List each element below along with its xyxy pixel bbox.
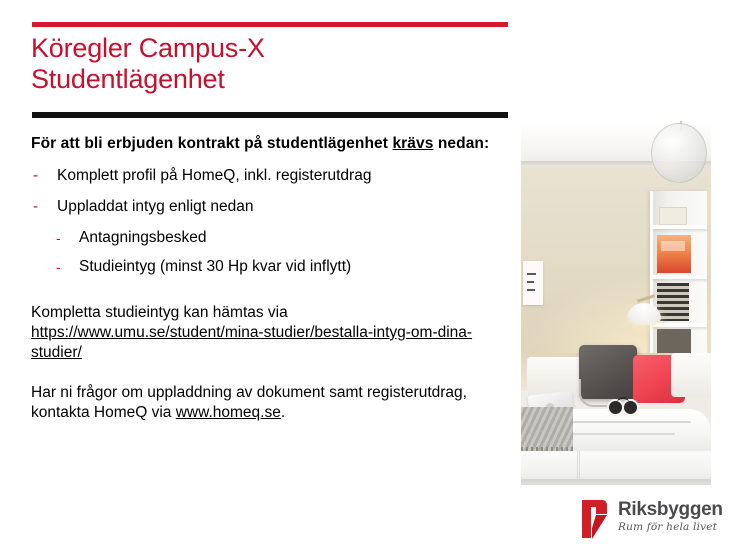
photo-drawer-seam (579, 451, 580, 479)
photo-poster-line (527, 281, 534, 283)
bullet-dash-icon: - (56, 257, 61, 277)
slide-canvas: Köregler Campus-X Studentlägenhet För at… (0, 0, 733, 550)
bullet-dash-icon: - (33, 166, 38, 186)
list-item-label: Uppladdat intyg enligt nedan (57, 198, 253, 215)
list-item-label: Antagningsbesked (79, 229, 207, 246)
link-homeq[interactable]: www.homeq.se (176, 404, 281, 421)
photo-shelf-board (653, 323, 707, 327)
photo-throw-blanket (521, 407, 573, 451)
bullet-dash-icon: - (33, 197, 38, 217)
bullet-dash-icon: - (56, 228, 61, 248)
paragraph-text: Kompletta studieintyg kan hämtas via (31, 304, 288, 321)
header-rule-red (32, 22, 508, 27)
lead-text-underlined: krävs (392, 135, 433, 152)
body-column: För att bli erbjuden kontrakt på student… (31, 134, 506, 423)
photo-shelf-striped-box (657, 283, 689, 321)
photo-shelf-dark-item (657, 329, 691, 353)
photo-headphone-band (617, 397, 629, 407)
riksbyggen-wordmark: Riksbyggen (618, 500, 723, 520)
paragraph-text-end: . (281, 404, 285, 421)
photo-poster-line (527, 273, 536, 275)
photo-drawer-seam (577, 451, 578, 479)
link-umu-studieintyg[interactable]: https://www.umu.se/student/mina-studier/… (31, 324, 472, 361)
photo-shelf-board (653, 225, 707, 229)
list-item: - Uppladdat intyg enligt nedan (31, 197, 506, 217)
photo-shelf-box (659, 207, 687, 225)
photo-poster-line (527, 289, 535, 291)
lead-paragraph: För att bli erbjuden kontrakt på student… (31, 134, 506, 154)
riksbyggen-mark-icon (578, 498, 612, 540)
page-title: Köregler Campus-X Studentlägenhet (31, 33, 501, 95)
list-item: - Komplett profil på HomeQ, inkl. regist… (31, 166, 506, 186)
lead-text-before: För att bli erbjuden kontrakt på student… (31, 135, 392, 152)
list-item: - Antagningsbesked (31, 228, 506, 248)
photo-shelf-unit (650, 191, 707, 373)
photo-pendant-lamp (651, 123, 707, 183)
photo-headphones (607, 397, 639, 413)
lead-text-after: nedan: (433, 135, 489, 152)
paragraph-studieintyg: Kompletta studieintyg kan hämtas via htt… (31, 303, 506, 363)
riksbyggen-tagline: Rum för hela livet (618, 521, 723, 534)
riksbyggen-logo: Riksbyggen Rum för hela livet (578, 496, 728, 542)
photo-pillow-white-right (671, 353, 711, 397)
photo-wall-poster (523, 261, 543, 305)
list-item: - Studieintyg (minst 30 Hp kvar vid infl… (31, 257, 506, 277)
riksbyggen-text: Riksbyggen Rum för hela livet (618, 500, 723, 534)
photo-pillow-white-left (527, 357, 581, 397)
photo-floor-shadow (521, 479, 711, 485)
list-item-label: Studieintyg (minst 30 Hp kvar vid inflyt… (79, 258, 351, 275)
photo-shelf-board (653, 275, 707, 279)
apartment-photo (521, 121, 711, 485)
paragraph-contact: Har ni frågor om uppladdning av dokument… (31, 383, 506, 423)
header-rule-black (32, 112, 508, 118)
list-item-label: Komplett profil på HomeQ, inkl. register… (57, 167, 371, 184)
photo-shelf-book (657, 235, 691, 273)
